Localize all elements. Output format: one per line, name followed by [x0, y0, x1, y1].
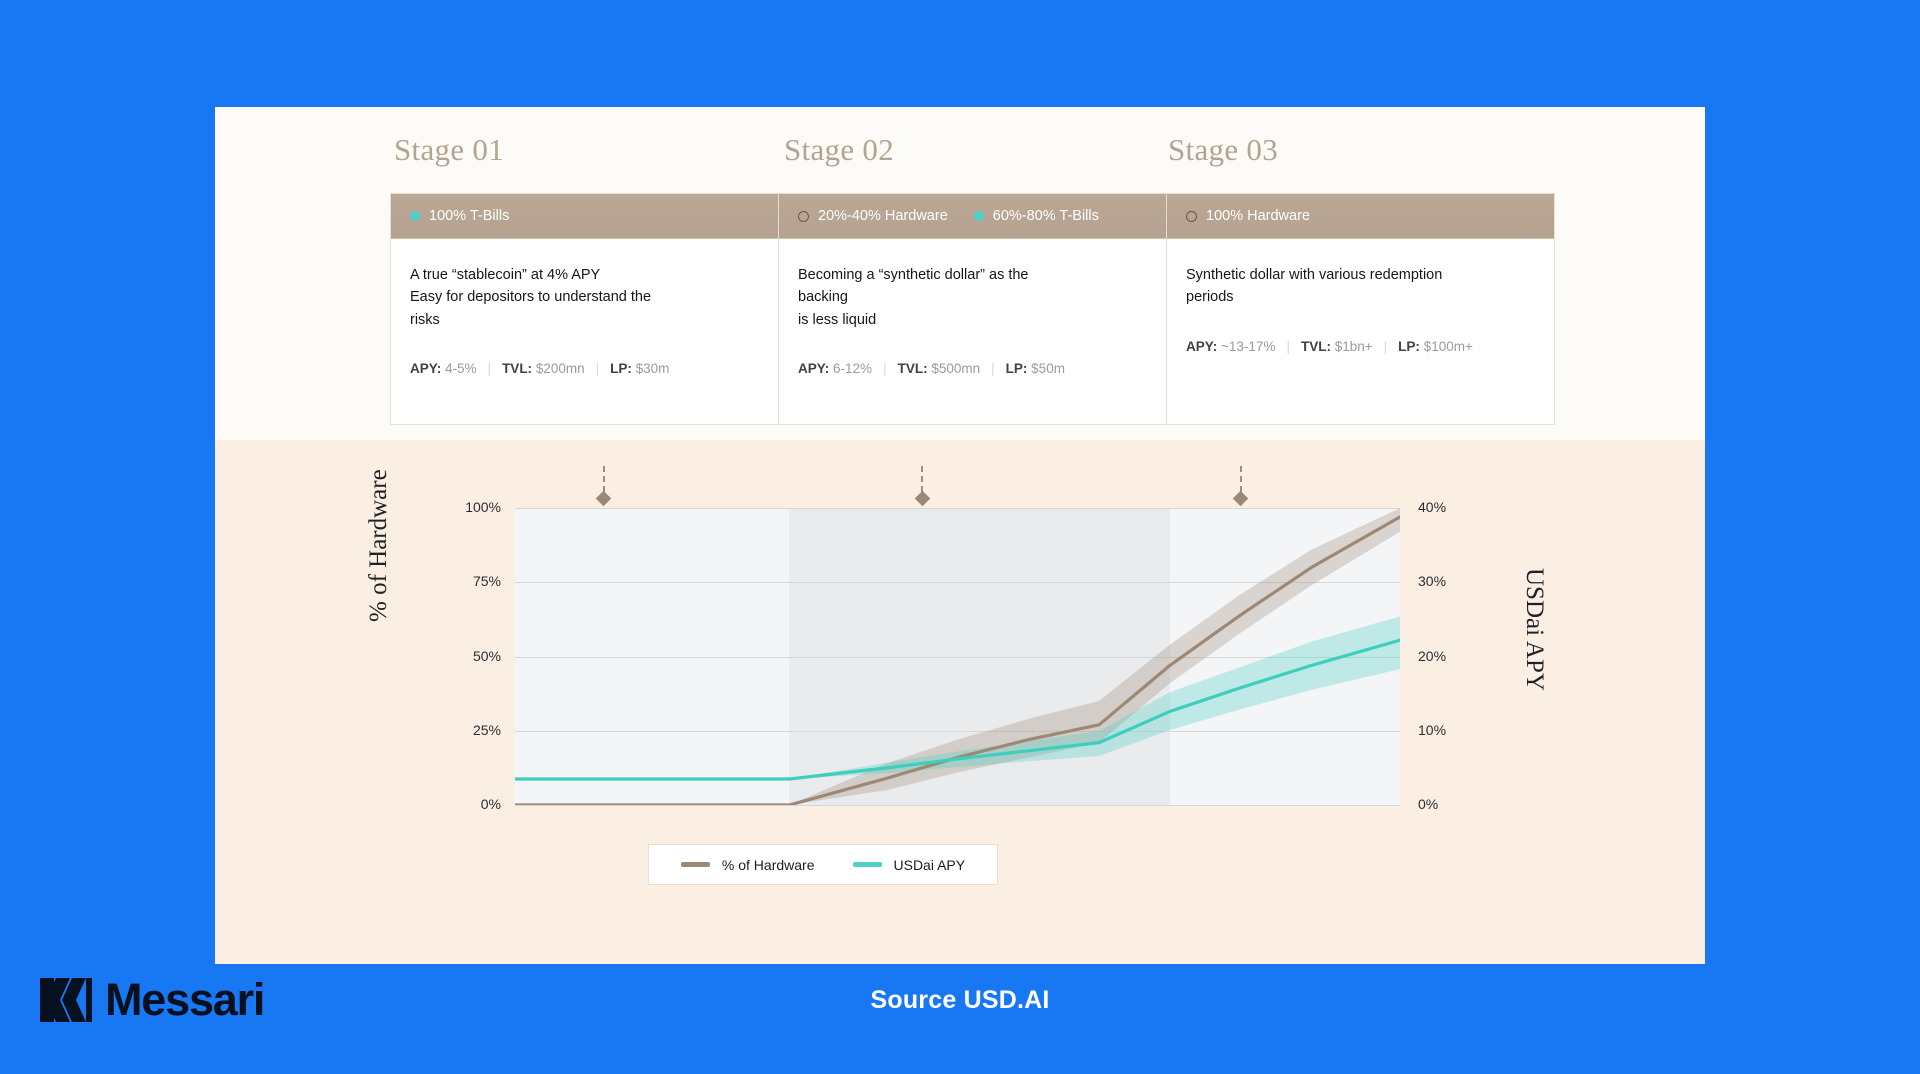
y-right-tick-20%: 20% [1418, 648, 1446, 664]
stage-card-03[interactable]: 100% Hardware Synthetic dollar with vari… [1167, 194, 1554, 424]
stage-03-header: 100% Hardware [1167, 194, 1554, 239]
metric-separator: | [1286, 339, 1290, 354]
y-right-tick-0%: 0% [1418, 796, 1438, 812]
legend-label-hardware: % of Hardware [722, 857, 815, 873]
stage-03-chip-label: 100% Hardware [1206, 208, 1310, 224]
stage-02-metric-apy: APY: 6-12% [798, 361, 872, 376]
stage-card-02[interactable]: 20%-40% Hardware 60%-80% T-Bills Becomin… [779, 194, 1167, 424]
series-plot-svg [515, 508, 1400, 805]
stage-03-description: Synthetic dollar with various redemption… [1186, 264, 1456, 309]
stage-02-metric-lp: LP: $50m [1006, 361, 1065, 376]
y-axis-left-title: % of Hardware [365, 469, 393, 622]
stage-03-metric-tvl: TVL: $1bn+ [1301, 339, 1373, 354]
stage-01-header: 100% T-Bills [391, 194, 778, 239]
stage-marker-1 [596, 466, 612, 504]
stage-card-list: 100% T-Bills A true “stablecoin” at 4% A… [390, 193, 1555, 425]
metric-separator: | [991, 361, 995, 376]
hollow-brown-dot-icon [798, 211, 809, 222]
stages-section: Stage 01 Stage 02 Stage 03 100% T-Bills … [390, 132, 1555, 442]
stage-02-chip-tbills: 60%-80% T-Bills [974, 208, 1099, 224]
poster-frame: Stage 01 Stage 02 Stage 03 100% T-Bills … [0, 0, 1920, 1074]
stage-01-description: A true “stablecoin” at 4% APY Easy for d… [410, 264, 680, 331]
y-right-tick-30%: 30% [1418, 573, 1446, 589]
stage-02-chip-label-tbills: 60%-80% T-Bills [993, 208, 1099, 224]
content-card: Stage 01 Stage 02 Stage 03 100% T-Bills … [215, 107, 1705, 964]
y-left-tick-0%: 0% [481, 796, 501, 812]
confidence-band-1 [515, 616, 1400, 779]
metric-separator: | [883, 361, 887, 376]
stage-02-chip-hardware: 20%-40% Hardware [798, 208, 948, 224]
footer: Messari Source USD.AI [0, 964, 1920, 1074]
stage-03-metrics: APY: ~13-17% | TVL: $1bn+ | LP: $100m+ [1186, 339, 1535, 354]
stage-01-metric-apy: APY: 4-5% [410, 361, 477, 376]
diamond-marker-icon [596, 491, 612, 507]
stage-01-metrics: APY: 4-5% | TVL: $200mn | LP: $30m [410, 361, 759, 376]
stage-title-03: Stage 03 [1168, 132, 1278, 168]
y-axis-right-title: USDai APY [1520, 568, 1548, 691]
legend-item-usdai-apy[interactable]: USDai APY [853, 857, 966, 873]
stage-03-body: Synthetic dollar with various redemption… [1167, 239, 1554, 424]
stage-title-01: Stage 01 [394, 132, 504, 168]
stage-02-metrics: APY: 6-12% | TVL: $500mn | LP: $50m [798, 361, 1147, 376]
y-left-tick-25%: 25% [473, 722, 501, 738]
y-left-tick-75%: 75% [473, 573, 501, 589]
stage-card-01[interactable]: 100% T-Bills A true “stablecoin” at 4% A… [391, 194, 779, 424]
chart-legend: % of Hardware USDai APY [648, 844, 998, 885]
teal-dot-icon [410, 211, 420, 221]
stage-03-metric-lp: LP: $100m+ [1398, 339, 1473, 354]
plot-area [515, 508, 1400, 805]
legend-item-hardware[interactable]: % of Hardware [681, 857, 815, 873]
y-left-tick-50%: 50% [473, 648, 501, 664]
metric-separator: | [488, 361, 492, 376]
chart-region: % of Hardware USDai APY 0%25%50%75%100% … [215, 440, 1705, 964]
stage-marker-3 [1233, 466, 1249, 504]
source-caption: Source USD.AI [0, 986, 1920, 1015]
stage-01-metric-lp: LP: $30m [610, 361, 669, 376]
legend-swatch-hardware [681, 862, 710, 867]
metric-separator: | [1384, 339, 1388, 354]
stage-01-body: A true “stablecoin” at 4% APY Easy for d… [391, 239, 778, 424]
stage-marker-2 [914, 466, 930, 504]
stage-02-description: Becoming a “synthetic dollar” as the bac… [798, 264, 1068, 331]
marker-stem [921, 466, 923, 492]
stage-01-metric-tvl: TVL: $200mn [502, 361, 585, 376]
diamond-marker-icon [1233, 491, 1249, 507]
stage-title-02: Stage 02 [784, 132, 894, 168]
stage-03-metric-apy: APY: ~13-17% [1186, 339, 1275, 354]
y-right-tick-40%: 40% [1418, 499, 1446, 515]
stage-01-chip-label: 100% T-Bills [429, 208, 509, 224]
marker-stem [1240, 466, 1242, 492]
legend-label-usdai-apy: USDai APY [894, 857, 966, 873]
legend-swatch-usdai-apy [853, 862, 882, 867]
hollow-brown-dot-icon [1186, 211, 1197, 222]
stage-02-metric-tvl: TVL: $500mn [898, 361, 981, 376]
metric-separator: | [596, 361, 600, 376]
gridline [515, 805, 1400, 806]
y-left-tick-100%: 100% [465, 499, 501, 515]
stage-01-chip-tbills: 100% T-Bills [410, 208, 509, 224]
stage-02-header: 20%-40% Hardware 60%-80% T-Bills [779, 194, 1166, 239]
stage-02-body: Becoming a “synthetic dollar” as the bac… [779, 239, 1166, 424]
diamond-marker-icon [914, 491, 930, 507]
stage-02-chip-label-hardware: 20%-40% Hardware [818, 208, 948, 224]
y-right-tick-10%: 10% [1418, 722, 1446, 738]
teal-dot-icon [974, 211, 984, 221]
marker-stem [603, 466, 605, 492]
stage-03-chip-hardware: 100% Hardware [1186, 208, 1310, 224]
